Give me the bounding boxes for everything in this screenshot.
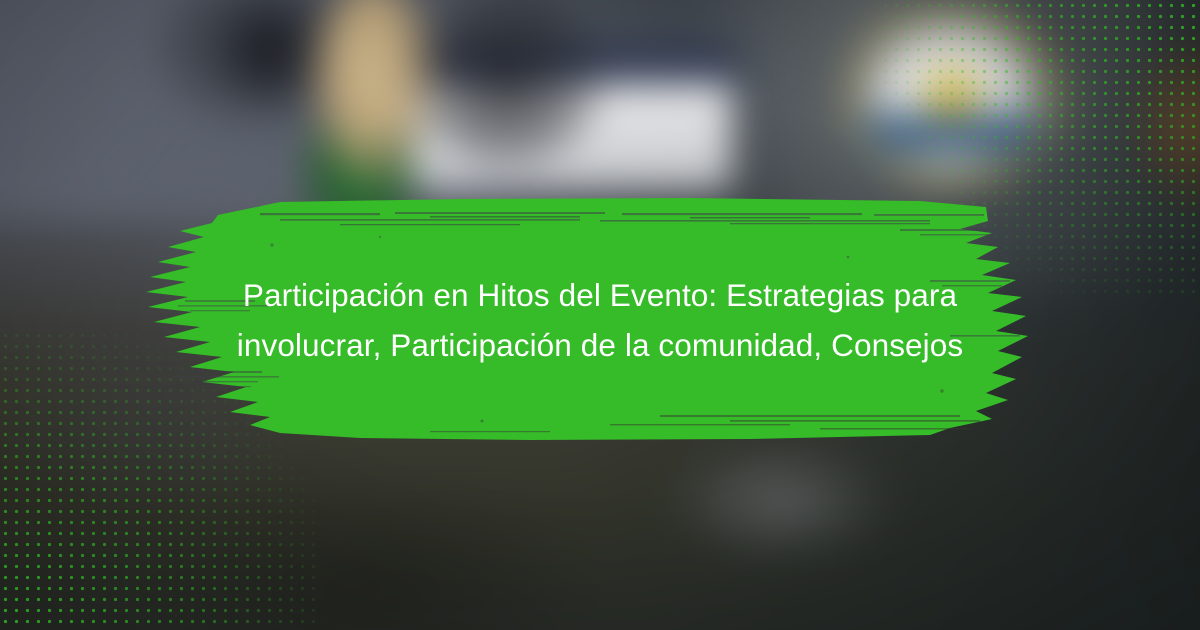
share-card: Participación en Hitos del Evento: Estra… (0, 0, 1200, 630)
title-line-2: involucrar, Participación de la comunida… (237, 320, 964, 370)
card-title: Participación en Hitos del Evento: Estra… (150, 270, 1050, 370)
title-line-1: Participación en Hitos del Evento: Estra… (243, 270, 957, 320)
